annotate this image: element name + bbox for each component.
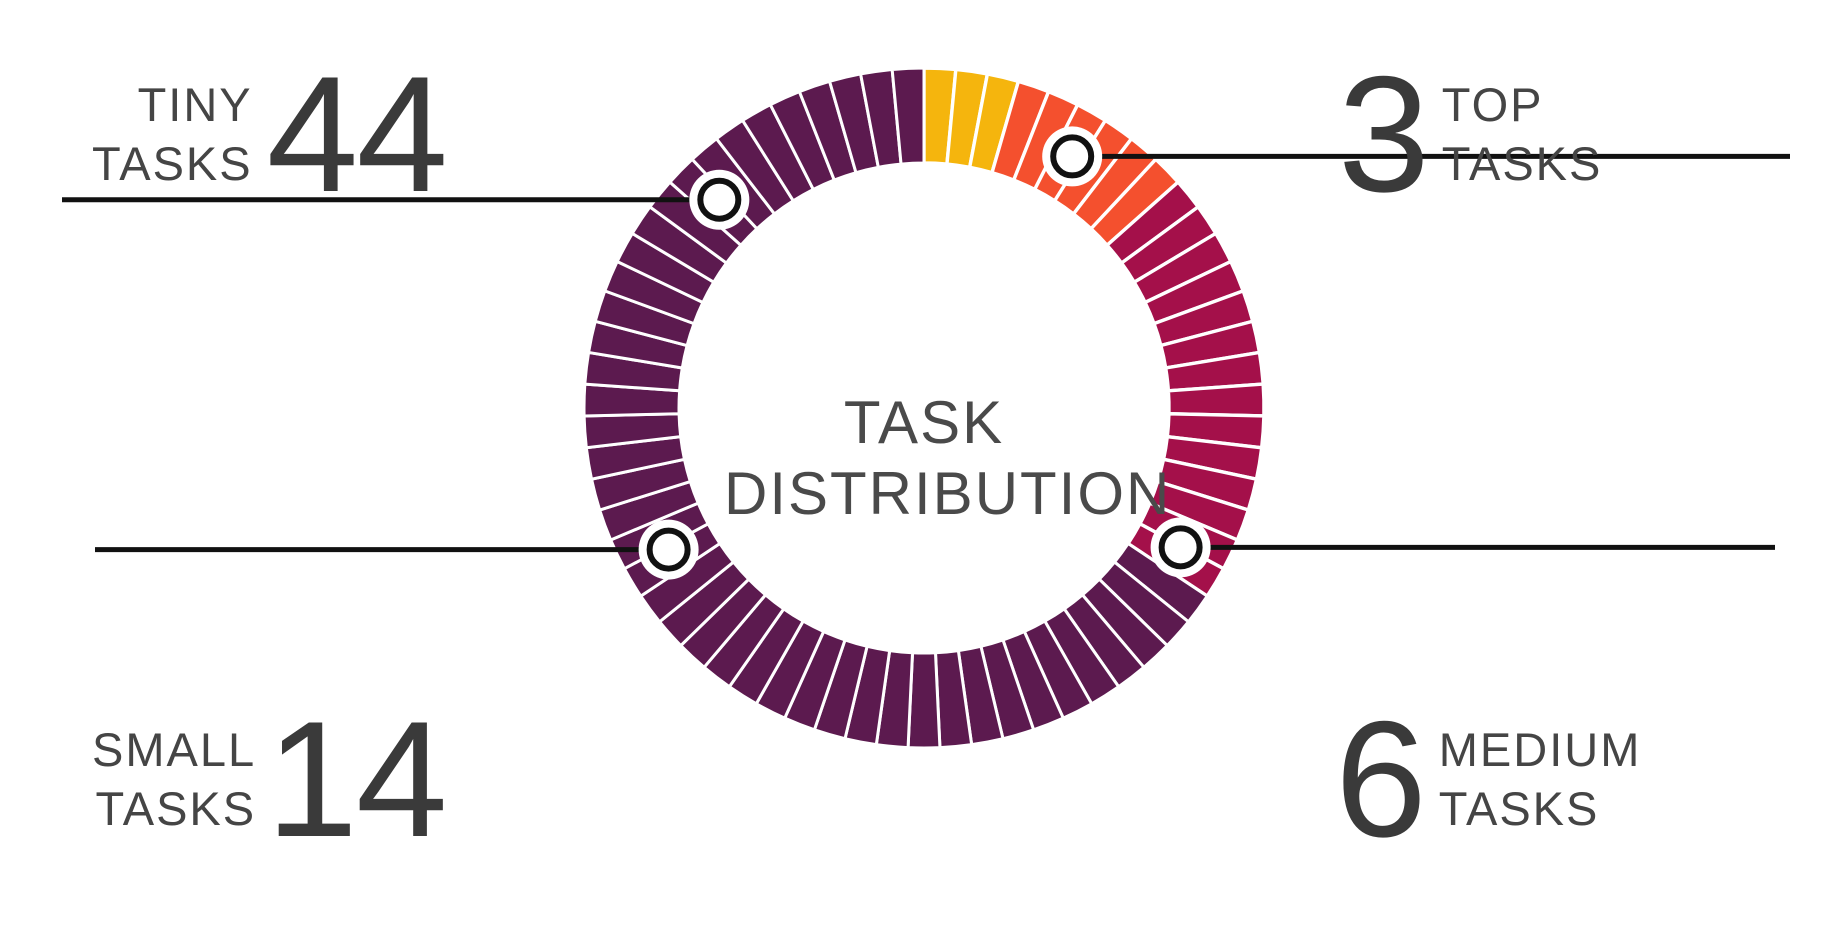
callout-tiny-tasks: TINY TASKS 44 bbox=[92, 62, 446, 207]
callout-top-tasks: 3 TOP TASKS bbox=[1338, 62, 1602, 207]
infographic-canvas: TASK DISTRIBUTION TINY TASKS 44 3 TOP TA… bbox=[0, 0, 1848, 948]
callout-medium-tasks: 6 MEDIUM TASKS bbox=[1335, 707, 1641, 852]
callout-tiny-label: TINY TASKS bbox=[92, 75, 253, 193]
callout-small-label: SMALL TASKS bbox=[92, 720, 256, 838]
callout-tiny-label-line2: TASKS bbox=[92, 134, 253, 193]
callout-top-value: 3 bbox=[1338, 62, 1428, 207]
callout-small-tasks: SMALL TASKS 14 bbox=[92, 707, 446, 852]
callout-tiny-value: 44 bbox=[267, 62, 447, 207]
leader-marker-tiny bbox=[700, 181, 738, 219]
callout-small-label-line1: SMALL bbox=[92, 720, 256, 779]
leader-marker-small bbox=[650, 531, 688, 569]
callout-small-label-line2: TASKS bbox=[96, 779, 257, 838]
callout-top-label: TOP TASKS bbox=[1442, 75, 1603, 193]
callout-medium-label-line1: MEDIUM bbox=[1439, 720, 1642, 779]
callout-small-value: 14 bbox=[266, 707, 446, 852]
callout-medium-value: 6 bbox=[1335, 707, 1425, 852]
leader-marker-medium bbox=[1162, 528, 1200, 566]
callout-top-label-line1: TOP bbox=[1442, 75, 1544, 134]
center-title-line1: TASK bbox=[724, 388, 1124, 459]
callout-medium-label: MEDIUM TASKS bbox=[1439, 720, 1642, 838]
center-title-line2: DISTRIBUTION bbox=[724, 459, 1124, 530]
callout-tiny-label-line1: TINY bbox=[138, 75, 253, 134]
callout-top-label-line2: TASKS bbox=[1442, 134, 1603, 193]
leader-marker-top bbox=[1053, 137, 1091, 175]
callout-medium-label-line2: TASKS bbox=[1439, 779, 1600, 838]
donut-segment bbox=[1168, 384, 1264, 416]
chart-center-title: TASK DISTRIBUTION bbox=[724, 388, 1124, 530]
